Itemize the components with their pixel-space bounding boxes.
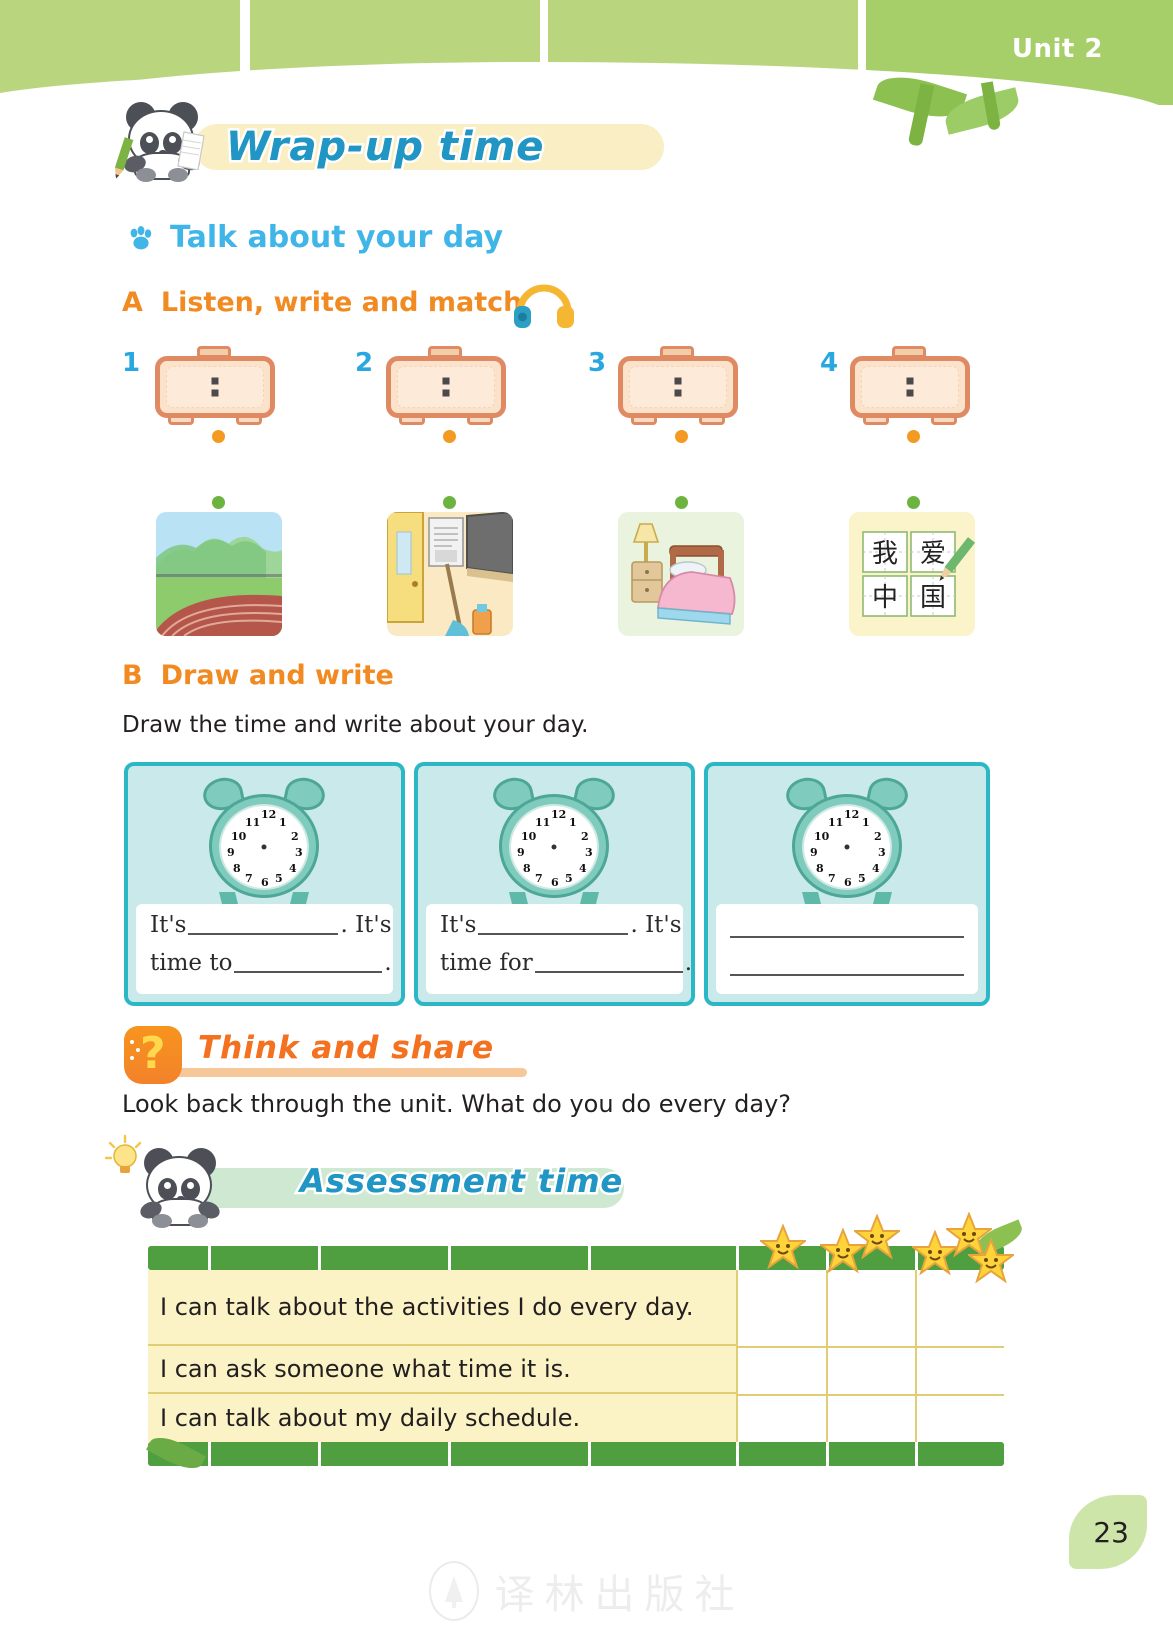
- question-mark-icon: ?: [124, 1026, 182, 1084]
- alarm-clock-icon-3[interactable]: 121 23 45 67 89 1011: [784, 776, 910, 908]
- write-line-2-row-1[interactable]: It's. It's: [440, 912, 671, 938]
- publisher-logo-icon: [429, 1561, 479, 1621]
- match-dot-bottom-2[interactable]: [443, 496, 456, 509]
- star-column-2[interactable]: [826, 1270, 915, 1442]
- clock-2-foot-left: [399, 415, 425, 425]
- assessment-row-1: I can talk about the activities I do eve…: [148, 1270, 736, 1346]
- line-2-prefix: time to: [150, 950, 232, 976]
- clock-1-colon: [212, 373, 219, 402]
- clock-1-foot-right: [236, 415, 262, 425]
- wrapup-title: Wrap-up time: [226, 124, 544, 170]
- bedroom-bed-picture[interactable]: [618, 512, 744, 636]
- svg-text:爱: 爱: [920, 539, 946, 569]
- running-track-picture[interactable]: [156, 512, 282, 636]
- writing-area-2[interactable]: It's. It's time for.: [426, 904, 683, 994]
- star-row-divider-1: [736, 1346, 1004, 1348]
- smiling-star-icon-1[interactable]: [760, 1224, 806, 1270]
- think-and-share-instruction: Look back through the unit. What do you …: [122, 1090, 791, 1118]
- line-1-prefix: It's: [150, 912, 186, 938]
- alarm-clock-icon-2[interactable]: 121 23 45 67 89 1011: [491, 776, 617, 908]
- item-number-1: 1: [122, 348, 140, 378]
- line-1-suffix: . It's: [630, 912, 681, 938]
- blank-2a[interactable]: [478, 914, 628, 935]
- panda-with-lightbulb-icon: [138, 1146, 222, 1226]
- page-header-banner: [0, 0, 1173, 105]
- match-dot-bottom-4[interactable]: [907, 496, 920, 509]
- star-column-3[interactable]: [915, 1270, 1004, 1442]
- line-2-suffix: .: [685, 950, 692, 976]
- clock-2-colon: [443, 373, 450, 402]
- clock-2-foot-right: [467, 415, 493, 425]
- star-row-divider-2: [736, 1394, 1004, 1396]
- think-and-share-title-row: ? Think and share Think and share: [124, 1030, 594, 1086]
- page-number: 23: [1093, 1516, 1129, 1549]
- digital-clock-4[interactable]: [850, 356, 970, 418]
- assessment-item-2: I can ask someone what time it is.: [160, 1354, 571, 1384]
- svg-text:我: 我: [872, 539, 898, 569]
- write-line-1-row-2[interactable]: time to.: [150, 950, 381, 976]
- write-line-1-row-1[interactable]: It's. It's: [150, 912, 381, 938]
- assessment-table: I can talk about the activities I do eve…: [148, 1246, 1004, 1466]
- match-dot-bottom-3[interactable]: [675, 496, 688, 509]
- draw-write-box-3[interactable]: 121 23 45 67 89 1011: [704, 762, 990, 1006]
- exercise-b-heading: BDraw and write: [122, 660, 394, 691]
- line-2-prefix: time for: [440, 950, 533, 976]
- exercise-a-letter: A: [122, 287, 143, 318]
- item-number-3: 3: [588, 348, 606, 378]
- star-column-1[interactable]: [736, 1270, 825, 1442]
- exercise-b-title: Draw and write: [161, 660, 394, 691]
- clock-4-foot-left: [863, 415, 889, 425]
- assessment-title: Assessment time: [300, 1162, 623, 1200]
- svg-text:国: 国: [920, 583, 946, 613]
- exercise-a-heading: AListen, write and match: [122, 287, 522, 318]
- match-dot-top-2[interactable]: [443, 430, 456, 443]
- blank-1b[interactable]: [234, 952, 382, 973]
- draw-write-box-1[interactable]: 121 23 45 67 89 1011 It's. It's time to.: [124, 762, 405, 1006]
- line-1-prefix: It's: [440, 912, 476, 938]
- digital-clock-1[interactable]: [155, 356, 275, 418]
- paw-print-icon: [128, 226, 154, 252]
- line-1-suffix: . It's: [340, 912, 391, 938]
- assessment-row-2: I can ask someone what time it is.: [148, 1346, 736, 1394]
- match-dot-top-4[interactable]: [907, 430, 920, 443]
- bamboo-bar-bottom: [148, 1442, 1004, 1466]
- classroom-cleaning-picture[interactable]: [387, 512, 513, 636]
- svg-text:中: 中: [872, 583, 898, 613]
- digital-clock-2[interactable]: [386, 356, 506, 418]
- exercise-a-title: Listen, write and match: [161, 287, 522, 318]
- smiling-star-icon-3[interactable]: [854, 1214, 900, 1260]
- star-column-edge: [1004, 1270, 1093, 1442]
- blank-3b[interactable]: [730, 974, 964, 976]
- talk-about-your-day-heading: Talk about your day: [170, 220, 503, 255]
- item-number-2: 2: [355, 348, 373, 378]
- assessment-item-1: I can talk about the activities I do eve…: [160, 1292, 694, 1322]
- exercise-b-letter: B: [122, 660, 143, 691]
- clock-3-foot-right: [699, 415, 725, 425]
- blank-1a[interactable]: [188, 914, 338, 935]
- digital-clock-3[interactable]: [618, 356, 738, 418]
- alarm-clock-icon-1[interactable]: 121 23 45 67 89 1011: [201, 776, 327, 908]
- assessment-row-3: I can talk about my daily schedule.: [148, 1394, 736, 1442]
- match-dot-bottom-1[interactable]: [212, 496, 225, 509]
- writing-area-3[interactable]: [716, 904, 978, 994]
- publisher-watermark: 译林出版社: [429, 1561, 745, 1621]
- clock-1-foot-left: [168, 415, 194, 425]
- blank-2b[interactable]: [535, 952, 683, 973]
- clock-4-foot-right: [931, 415, 957, 425]
- headphones-icon: [512, 272, 576, 330]
- match-dot-top-3[interactable]: [675, 430, 688, 443]
- think-title-underline: [172, 1068, 527, 1077]
- match-dot-top-1[interactable]: [212, 430, 225, 443]
- wrapup-title-row: Wrap-up time Wrap-up time: [120, 96, 680, 192]
- smiling-star-icon-6[interactable]: [968, 1238, 1014, 1284]
- writing-area-1[interactable]: It's. It's time to.: [136, 904, 393, 994]
- panda-with-pencil-icon: [120, 100, 204, 180]
- think-and-share-title: Think and share: [198, 1030, 494, 1066]
- blank-3a[interactable]: [730, 936, 964, 938]
- unit-label: Unit 2: [1012, 34, 1103, 64]
- clock-3-colon: [675, 373, 682, 402]
- assessment-item-3: I can talk about my daily schedule.: [160, 1403, 580, 1433]
- line-2-suffix: .: [384, 950, 391, 976]
- write-line-2-row-2[interactable]: time for.: [440, 950, 671, 976]
- draw-write-box-2[interactable]: 121 23 45 67 89 1011 It's. It's time for…: [414, 762, 695, 1006]
- exercise-b-instruction: Draw the time and write about your day.: [122, 712, 588, 738]
- clock-3-foot-left: [631, 415, 657, 425]
- chinese-writing-picture[interactable]: 我 爱 中 国: [849, 512, 975, 636]
- item-number-4: 4: [820, 348, 838, 378]
- clock-4-colon: [907, 373, 914, 402]
- publisher-name: 译林出版社: [495, 1562, 745, 1620]
